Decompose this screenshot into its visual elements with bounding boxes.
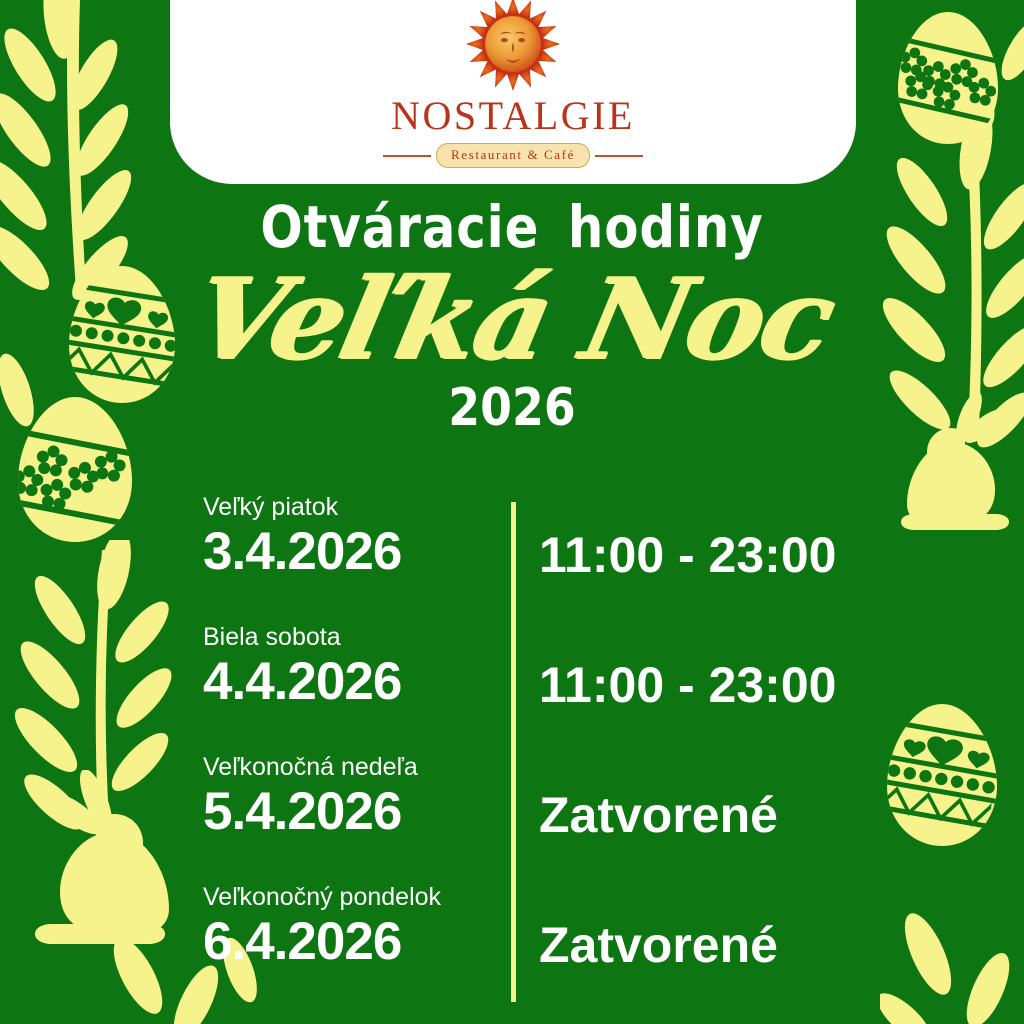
- easter-opening-hours-poster: NOSTALGIE Restaurant & Café Otváracie ho…: [0, 0, 1024, 1024]
- tagline-rule-left: [383, 155, 431, 157]
- schedule-row-day-cell: Veľkonočná nedeľa 5.4.2026: [0, 753, 511, 841]
- schedule-row-easter-sunday: Veľkonočná nedeľa 5.4.2026 Zatvorené: [0, 753, 1024, 883]
- day-hours: 11:00 - 23:00: [539, 527, 1024, 583]
- heading-easter-script: Veľká Noc: [0, 264, 1024, 376]
- day-name: Biela sobota: [203, 623, 501, 652]
- tagline-rule-right: [595, 155, 643, 157]
- schedule-row-hours-cell: Zatvorené: [511, 753, 1024, 843]
- brand-tagline: Restaurant & Café: [451, 147, 575, 162]
- day-hours: 11:00 - 23:00: [539, 657, 1024, 713]
- schedule-row-good-friday: Veľký piatok 3.4.2026 11:00 - 23:00: [0, 493, 1024, 623]
- sun-face-icon: [465, 0, 561, 92]
- brand-logo-card: NOSTALGIE Restaurant & Café: [170, 0, 856, 184]
- branch-mid-right-icon: [930, 0, 1024, 130]
- brand-wordmark: NOSTALGIE: [391, 96, 635, 136]
- schedule-row-day-cell: Veľkonočný pondelok 6.4.2026: [0, 883, 511, 971]
- schedule-row-day-cell: Biela sobota 4.4.2026: [0, 623, 511, 711]
- day-name: Veľkonočná nedeľa: [203, 753, 501, 782]
- heading-year: 2026: [61, 382, 962, 434]
- day-date: 5.4.2026: [203, 782, 501, 841]
- day-hours: Zatvorené: [539, 917, 1024, 973]
- easter-egg-flowers-top-right-icon: [888, 8, 1008, 148]
- day-name: Veľký piatok: [203, 493, 501, 522]
- schedule-row-day-cell: Veľký piatok 3.4.2026: [0, 493, 511, 581]
- schedule-row-holy-saturday: Biela sobota 4.4.2026 11:00 - 23:00: [0, 623, 1024, 753]
- day-date: 4.4.2026: [203, 652, 501, 711]
- day-hours: Zatvorené: [539, 787, 1024, 843]
- day-date: 6.4.2026: [203, 912, 501, 971]
- day-date: 3.4.2026: [203, 522, 501, 581]
- brand-tagline-wrap: Restaurant & Café: [383, 143, 643, 168]
- schedule-row-easter-monday: Veľkonočný pondelok 6.4.2026 Zatvorené: [0, 883, 1024, 1013]
- opening-hours-schedule: Veľký piatok 3.4.2026 11:00 - 23:00 Biel…: [0, 493, 1024, 1013]
- tagline-pill: Restaurant & Café: [436, 143, 590, 168]
- schedule-row-hours-cell: 11:00 - 23:00: [511, 493, 1024, 583]
- schedule-row-hours-cell: Zatvorené: [511, 883, 1024, 973]
- day-name: Veľkonočný pondelok: [203, 883, 501, 912]
- poster-headings: Otváracie hodiny Veľká Noc 2026: [0, 196, 1024, 434]
- heading-opening-hours: Otváracie hodiny: [72, 196, 953, 260]
- schedule-row-hours-cell: 11:00 - 23:00: [511, 623, 1024, 713]
